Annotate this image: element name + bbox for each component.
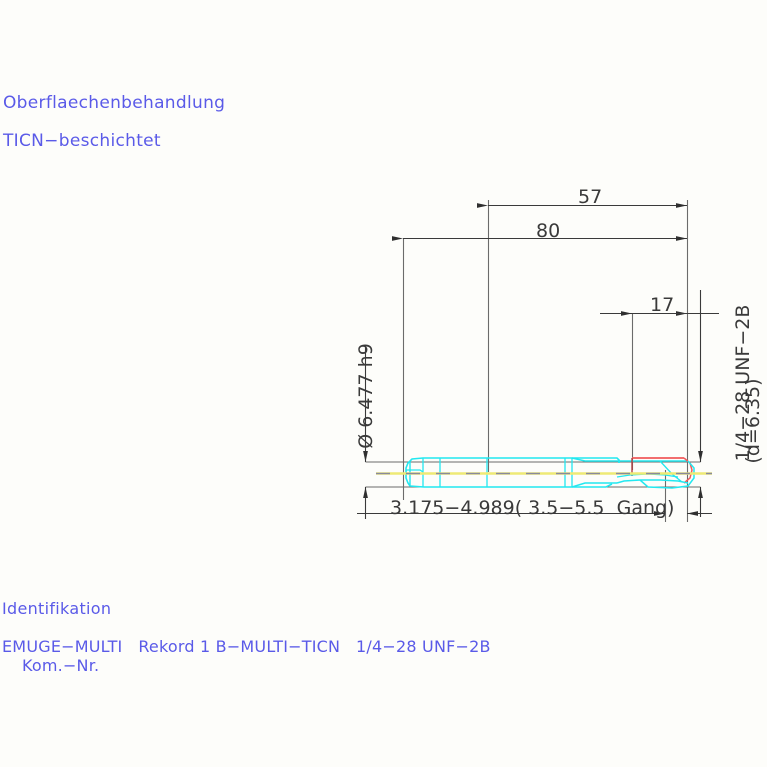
identification-heading: Identifikation (2, 599, 111, 618)
identification-line-2: Kom.−Nr. (22, 656, 99, 675)
dimension-label-chamfer-note: 3.175−4.989( 3.5−5.5 Gang) (390, 497, 674, 519)
surface-treatment-value: TICN−beschichtet (3, 131, 161, 151)
identification-line-1: EMUGE−MULTI Rekord 1 B−MULTI−TICN 1/4−28… (2, 637, 491, 656)
dimension-label-shank-diameter: Ø 6.477 h9 (355, 316, 377, 476)
dimension-label-57: 57 (578, 186, 602, 208)
dimension-label-17: 17 (650, 294, 674, 316)
dimension-label-thread-pitch-diameter: (d=6.35) (742, 356, 764, 486)
surface-treatment-heading: Oberflaechenbehandlung (3, 93, 225, 113)
dimension-label-80: 80 (536, 220, 560, 242)
